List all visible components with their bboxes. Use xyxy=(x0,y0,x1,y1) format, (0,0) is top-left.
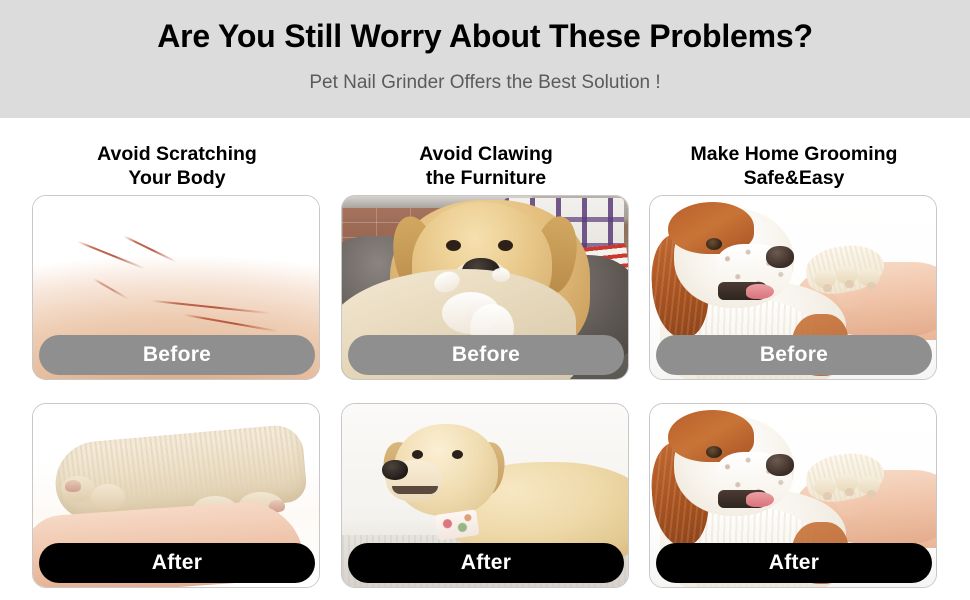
after-label: After xyxy=(348,543,624,583)
before-card: Before xyxy=(32,195,320,380)
paw-toe xyxy=(91,484,125,510)
paw-claw xyxy=(867,282,876,290)
header-band: Are You Still Worry About These Problems… xyxy=(0,0,970,118)
before-card: Before xyxy=(341,195,629,380)
before-label: Before xyxy=(656,335,932,375)
column-heading-line2: Safe&Easy xyxy=(649,166,939,190)
scratch-mark xyxy=(151,300,271,315)
after-card: After xyxy=(649,403,937,588)
column-heading-line2: Your Body xyxy=(32,166,322,190)
paw-claw xyxy=(845,488,854,496)
dog-nose xyxy=(766,246,794,268)
column-heading: Avoid Clawing the Furniture xyxy=(341,142,631,190)
after-card: After xyxy=(32,403,320,588)
paw-claw xyxy=(823,284,832,292)
before-card: Before xyxy=(649,195,937,380)
dog-eye-right xyxy=(498,240,513,251)
scratch-mark xyxy=(123,235,176,262)
before-label: Before xyxy=(348,335,624,375)
page-subtitle: Pet Nail Grinder Offers the Best Solutio… xyxy=(0,72,970,94)
scratch-mark xyxy=(93,278,129,300)
before-label: Before xyxy=(39,335,315,375)
paw-claw xyxy=(823,492,832,500)
dog-eye-left xyxy=(446,240,461,251)
dog-eye xyxy=(706,238,722,250)
column-heading: Make Home Grooming Safe&Easy xyxy=(649,142,939,190)
dog-eye-right xyxy=(452,450,463,459)
dog-eye xyxy=(706,446,722,458)
paw-nail xyxy=(65,480,81,492)
dog-mouth xyxy=(392,486,438,494)
dog-eye-left xyxy=(412,450,423,459)
dog-nose xyxy=(382,460,408,480)
paw-claw xyxy=(845,280,854,288)
dog-tongue xyxy=(746,492,774,507)
column-heading-line1: Avoid Clawing xyxy=(341,142,631,166)
comparison-column-avoid-scratching: Avoid Scratching Your Body Before xyxy=(32,118,322,600)
page-title: Are You Still Worry About These Problems… xyxy=(0,18,970,55)
column-heading: Avoid Scratching Your Body xyxy=(32,142,322,190)
after-label: After xyxy=(656,543,932,583)
after-label: After xyxy=(39,543,315,583)
scratch-mark xyxy=(77,241,145,270)
after-card: After xyxy=(341,403,629,588)
comparison-column-avoid-clawing: Avoid Clawing the Furniture xyxy=(341,118,631,600)
scratch-mark xyxy=(184,314,279,333)
comparison-grid: Avoid Scratching Your Body Before xyxy=(0,118,970,600)
column-heading-line2: the Furniture xyxy=(341,166,631,190)
comparison-column-home-grooming: Make Home Grooming Safe&Easy xyxy=(649,118,939,600)
column-heading-line1: Avoid Scratching xyxy=(32,142,322,166)
column-heading-line1: Make Home Grooming xyxy=(649,142,939,166)
promo-infographic: Are You Still Worry About These Problems… xyxy=(0,0,970,600)
dog-tongue xyxy=(746,284,774,299)
cushion-stuffing xyxy=(492,268,510,282)
dog-nose xyxy=(766,454,794,476)
paw-claw xyxy=(867,490,876,498)
